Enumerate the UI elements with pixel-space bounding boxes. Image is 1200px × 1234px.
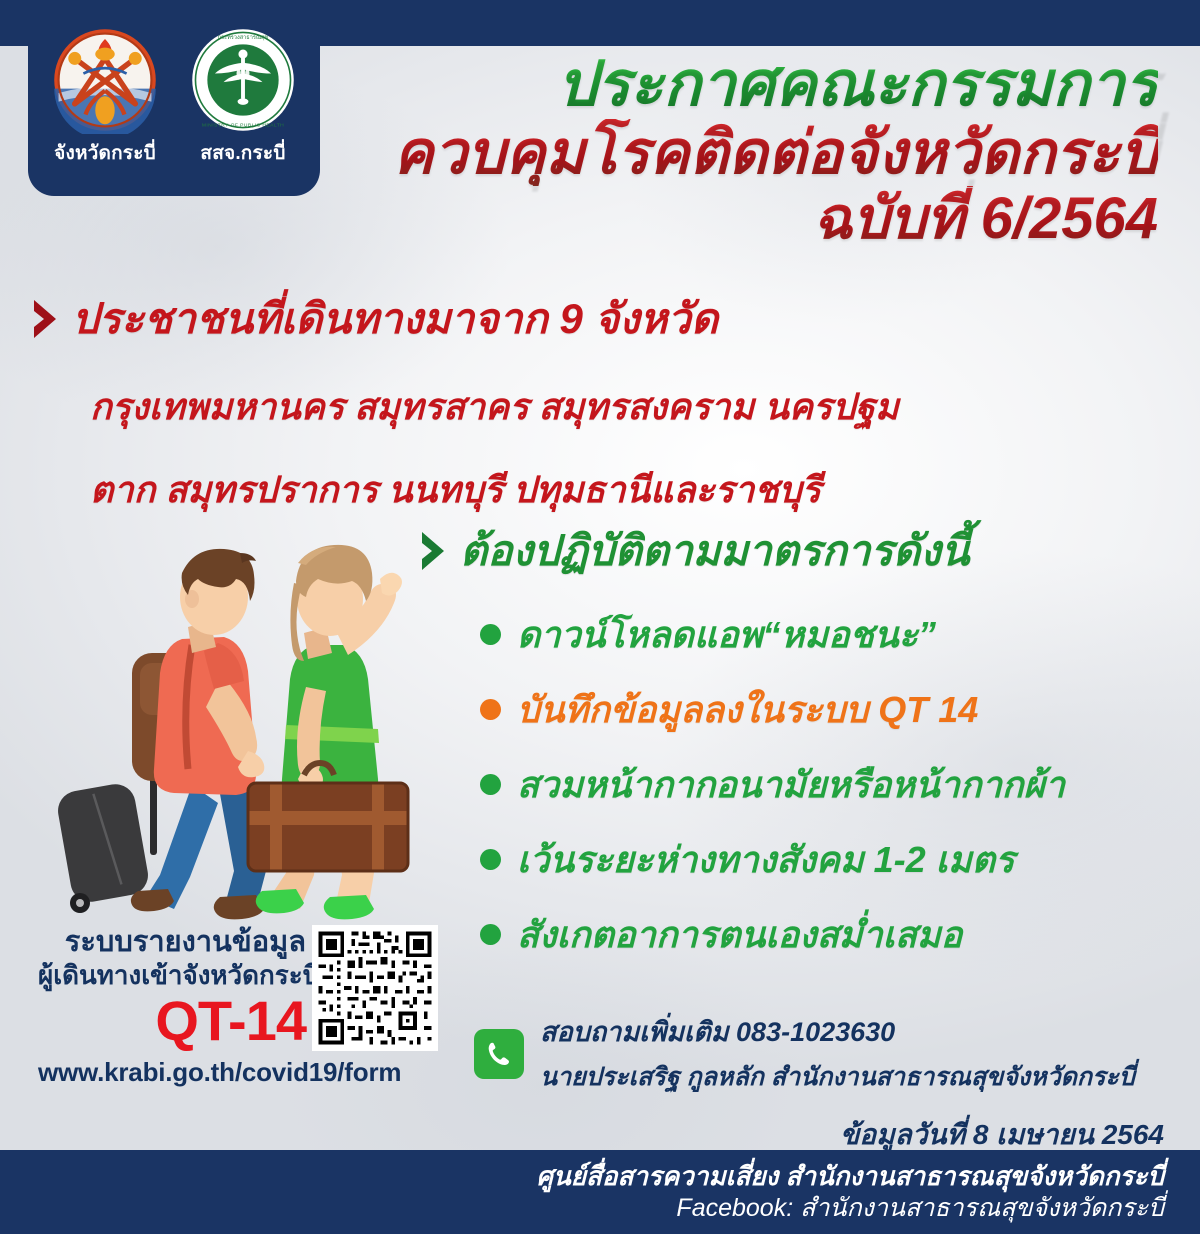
footer-bar: ศูนย์สื่อสารความเสี่ยง สำนักงานสาธารณสุข…	[0, 1150, 1200, 1234]
list-item: เว้นระยะห่างทางสังคม 1-2 เมตร	[480, 831, 1188, 888]
list-item: สวมหน้ากากอนามัยหรือหน้ากากผ้า	[480, 756, 1188, 813]
svg-text:MINISTRY OF PUBLIC HEALTH: MINISTRY OF PUBLIC HEALTH	[202, 122, 284, 128]
provinces-list-line1: กรุงเทพมหานคร สมุทรสาคร สมุทรสงคราม นครป…	[90, 378, 1180, 435]
announcement-poster: จังหวัดกระบี่ กระทรวงสาธารณสุข MINISTRY …	[0, 0, 1200, 1234]
bullet-dot-icon	[480, 924, 501, 945]
krabi-province-seal-icon	[51, 26, 159, 134]
measures-section: ต้องปฏิบัติตามมาตรการดังนี้ ดาวน์โหลดแอพ…	[418, 518, 1188, 981]
svg-text:กระทรวงสาธารณสุข: กระทรวงสาธารณสุข	[218, 34, 269, 41]
two-travelers-with-luggage-illustration	[42, 535, 442, 935]
qt14-line2: ผู้เดินทางเข้าจังหวัดกระบี่	[38, 961, 306, 991]
measures-bullet-list: ดาวน์โหลดแอพ“หมอชนะ” บันทึกข้อมูลลงในระบ…	[480, 606, 1188, 963]
contact-person-line: นายประเสริฐ กูลหลัก สำนักงานสาธารณสุขจัง…	[540, 1057, 1135, 1097]
measure-text: ดาวน์โหลดแอพ“หมอชนะ”	[517, 606, 936, 663]
measure-text: เว้นระยะห่างทางสังคม 1-2 เมตร	[517, 831, 1014, 888]
footer-facebook-line: Facebook: สำนักงานสาธารณสุขจังหวัดกระบี่	[0, 1193, 1164, 1224]
list-item: สังเกตอาการตนเองสม่ำเสมอ	[480, 906, 1188, 963]
woman-traveler-figure	[248, 545, 408, 920]
contact-block: สอบถามเพิ่มเติม 083-1023630 นายประเสริฐ …	[474, 1010, 1135, 1097]
announcement-title-line1: ประกาศคณะกรรมการ	[328, 52, 1158, 119]
provinces-heading-row: ประชาชนที่เดินทางมาจาก 9 จังหวัด	[30, 286, 1180, 352]
telephone-icon	[474, 1029, 524, 1079]
qr-code-icon[interactable]	[312, 925, 438, 1051]
provinces-section: ประชาชนที่เดินทางมาจาก 9 จังหวัด กรุงเทพ…	[30, 286, 1180, 518]
contact-lines: สอบถามเพิ่มเติม 083-1023630 นายประเสริฐ …	[540, 1010, 1135, 1097]
logo-caption-krabi: จังหวัดกระบี่	[54, 138, 156, 168]
bullet-dot-icon	[480, 774, 501, 795]
measures-heading: ต้องปฏิบัติตามมาตรการดังนี้	[460, 518, 970, 584]
ministry-of-public-health-seal-icon: กระทรวงสาธารณสุข MINISTRY OF PUBLIC HEAL…	[189, 26, 297, 134]
chevron-right-icon	[418, 530, 448, 572]
header-titles: ประกาศคณะกรรมการ ควบคุมโรคติดต่อจังหวัดก…	[328, 52, 1158, 252]
logo-caption-moph: สสจ.กระบี่	[200, 138, 285, 168]
measure-text: สังเกตอาการตนเองสม่ำเสมอ	[517, 906, 962, 963]
man-traveler-figure	[131, 549, 266, 920]
measure-text: บันทึกข้อมูลลงในระบบ QT 14	[517, 681, 978, 738]
bullet-dot-icon	[480, 849, 501, 870]
contact-phone-line: สอบถามเพิ่มเติม 083-1023630	[540, 1010, 1135, 1053]
list-item: ดาวน์โหลดแอพ“หมอชนะ”	[480, 606, 1188, 663]
logo-panel: จังหวัดกระบี่ กระทรวงสาธารณสุข MINISTRY …	[28, 0, 320, 196]
announcement-title-line2: ควบคุมโรคติดต่อจังหวัดกระบี่	[328, 119, 1158, 186]
provinces-heading: ประชาชนที่เดินทางมาจาก 9 จังหวัด	[72, 286, 718, 352]
chevron-right-icon	[30, 298, 60, 340]
qt14-line1: ระบบรายงานข้อมูล	[38, 927, 306, 959]
qt14-top-row: ระบบรายงานข้อมูล ผู้เดินทางเข้าจังหวัดกร…	[38, 925, 438, 1051]
logo-moph: กระทรวงสาธารณสุข MINISTRY OF PUBLIC HEAL…	[181, 26, 305, 168]
bullet-dot-icon	[480, 699, 501, 720]
qt14-text-column: ระบบรายงานข้อมูล ผู้เดินทางเข้าจังหวัดกร…	[38, 925, 306, 1049]
qt14-url[interactable]: www.krabi.go.th/covid19/form	[38, 1057, 438, 1088]
bullet-dot-icon	[480, 624, 501, 645]
announcement-issue-number: ฉบับที่ 6/2564	[328, 186, 1158, 252]
qt14-code: QT-14	[38, 993, 306, 1049]
list-item: บันทึกข้อมูลลงในระบบ QT 14	[480, 681, 1188, 738]
measure-text: สวมหน้ากากอนามัยหรือหน้ากากผ้า	[517, 756, 1065, 813]
footer-office-line: ศูนย์สื่อสารความเสี่ยง สำนักงานสาธารณสุข…	[0, 1160, 1164, 1193]
provinces-list-line2: ตาก สมุทรปราการ นนทบุรี ปทุมธานีและราชบุ…	[90, 461, 1180, 518]
measures-heading-row: ต้องปฏิบัติตามมาตรการดังนี้	[418, 518, 1188, 584]
logo-krabi-province: จังหวัดกระบี่	[43, 26, 167, 168]
qt14-reporting-block: ระบบรายงานข้อมูล ผู้เดินทางเข้าจังหวัดกร…	[38, 925, 438, 1088]
